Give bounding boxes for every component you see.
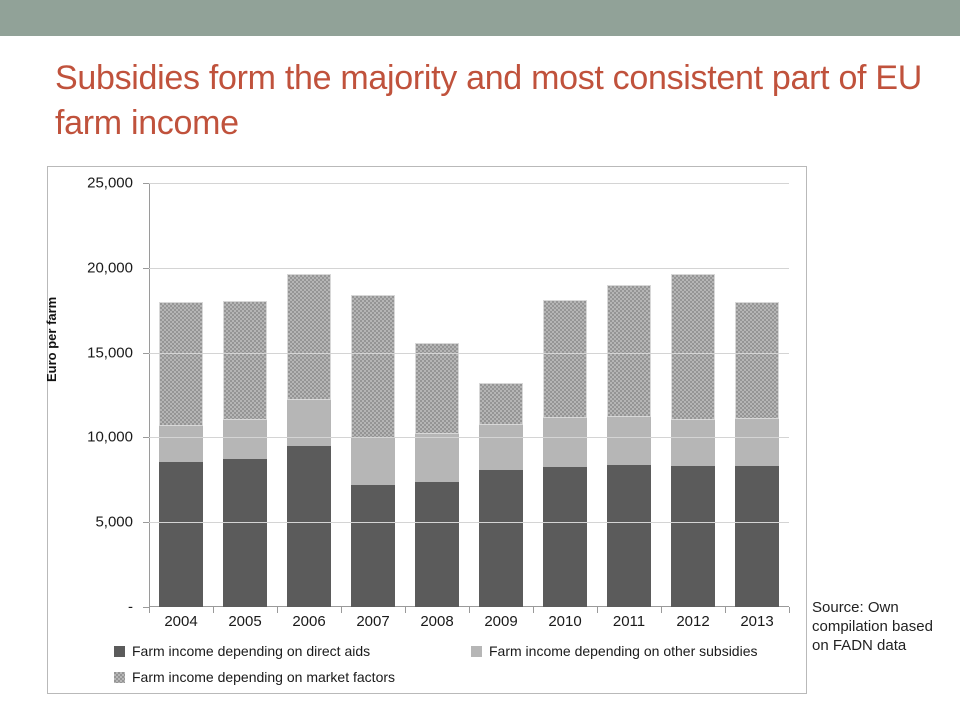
chart-legend: Farm income depending on direct aids Far…	[114, 643, 804, 695]
bar-segment[interactable]	[351, 485, 395, 607]
x-tick-mark	[789, 607, 790, 613]
bar-segment[interactable]	[543, 418, 587, 468]
bar-segment[interactable]	[351, 438, 395, 484]
bar-stack[interactable]	[223, 183, 267, 607]
legend-row-2: Farm income depending on market factors	[114, 669, 804, 695]
plot-area	[149, 183, 789, 607]
legend-item-market-factors[interactable]: Farm income depending on market factors	[114, 669, 395, 685]
legend-label: Farm income depending on market factors	[132, 669, 395, 685]
x-tick-label: 2005	[213, 613, 277, 630]
bar-segment[interactable]	[415, 482, 459, 608]
bar-stack[interactable]	[479, 183, 523, 607]
bar-segment[interactable]	[415, 434, 459, 481]
bar-segment[interactable]	[287, 274, 331, 400]
legend-swatch-icon	[471, 646, 482, 657]
gridline	[149, 437, 789, 438]
bar-segment[interactable]	[415, 343, 459, 434]
bar-segment[interactable]	[543, 300, 587, 418]
y-tick-mark	[143, 353, 149, 354]
bar-segment[interactable]	[351, 295, 395, 438]
x-tick-label: 2012	[661, 613, 725, 630]
y-tick-label: 15,000	[87, 344, 133, 361]
x-tick-label: 2009	[469, 613, 533, 630]
legend-row-1: Farm income depending on direct aids Far…	[114, 643, 804, 669]
y-tick-mark	[143, 437, 149, 438]
bar-segment[interactable]	[671, 420, 715, 467]
x-tick-label: 2007	[341, 613, 405, 630]
y-axis-tick-labels: 25,00020,00015,00010,0005,000-	[48, 183, 143, 607]
bar-segment[interactable]	[159, 462, 203, 607]
legend-swatch-icon	[114, 646, 125, 657]
y-tick-label: 20,000	[87, 259, 133, 276]
bar-stack[interactable]	[287, 183, 331, 607]
x-tick-label: 2006	[277, 613, 341, 630]
bar-group	[149, 183, 789, 607]
bar-segment[interactable]	[479, 470, 523, 607]
chart-container: Euro per farm 25,00020,00015,00010,0005,…	[47, 166, 807, 694]
source-note: Source: Own compilation based on FADN da…	[812, 598, 952, 655]
legend-item-other-subsidies[interactable]: Farm income depending on other subsidies	[471, 643, 758, 659]
y-tick-mark	[143, 183, 149, 184]
bar-segment[interactable]	[735, 419, 779, 466]
bar-segment[interactable]	[479, 383, 523, 425]
x-tick-label: 2011	[597, 613, 661, 630]
y-tick-label: 5,000	[95, 514, 133, 531]
legend-swatch-icon	[114, 672, 125, 683]
bar-segment[interactable]	[287, 400, 331, 446]
bar-stack[interactable]	[607, 183, 651, 607]
x-tick-label: 2013	[725, 613, 789, 630]
y-tick-label: 10,000	[87, 429, 133, 446]
bar-stack[interactable]	[735, 183, 779, 607]
bar-segment[interactable]	[159, 302, 203, 426]
bar-segment[interactable]	[479, 425, 523, 470]
gridline	[149, 353, 789, 354]
legend-item-direct-aids[interactable]: Farm income depending on direct aids	[114, 643, 370, 659]
bar-segment[interactable]	[607, 417, 651, 465]
gridline	[149, 268, 789, 269]
bar-segment[interactable]	[287, 446, 331, 607]
bar-stack[interactable]	[671, 183, 715, 607]
bar-segment[interactable]	[223, 420, 267, 460]
legend-label: Farm income depending on other subsidies	[489, 643, 758, 659]
y-tick-mark	[143, 268, 149, 269]
bar-stack[interactable]	[159, 183, 203, 607]
bar-segment[interactable]	[543, 467, 587, 607]
legend-label: Farm income depending on direct aids	[132, 643, 370, 659]
bar-segment[interactable]	[735, 466, 779, 607]
x-tick-label: 2004	[149, 613, 213, 630]
bar-segment[interactable]	[223, 459, 267, 607]
x-axis-tick-labels: 2004200520062007200820092010201120122013	[149, 613, 789, 637]
top-banner	[0, 0, 960, 36]
bar-segment[interactable]	[735, 302, 779, 419]
y-tick-label: -	[128, 599, 133, 616]
x-tick-label: 2008	[405, 613, 469, 630]
y-tick-mark	[143, 522, 149, 523]
x-tick-label: 2010	[533, 613, 597, 630]
gridline	[149, 183, 789, 184]
bar-stack[interactable]	[543, 183, 587, 607]
page-title: Subsidies form the majority and most con…	[55, 56, 935, 146]
bar-segment[interactable]	[159, 426, 203, 462]
bar-stack[interactable]	[351, 183, 395, 607]
bar-segment[interactable]	[607, 465, 651, 607]
y-tick-label: 25,000	[87, 175, 133, 192]
bar-segment[interactable]	[671, 274, 715, 420]
gridline	[149, 522, 789, 523]
bar-stack[interactable]	[415, 183, 459, 607]
bar-segment[interactable]	[671, 466, 715, 607]
bar-segment[interactable]	[607, 285, 651, 417]
bar-segment[interactable]	[223, 301, 267, 420]
